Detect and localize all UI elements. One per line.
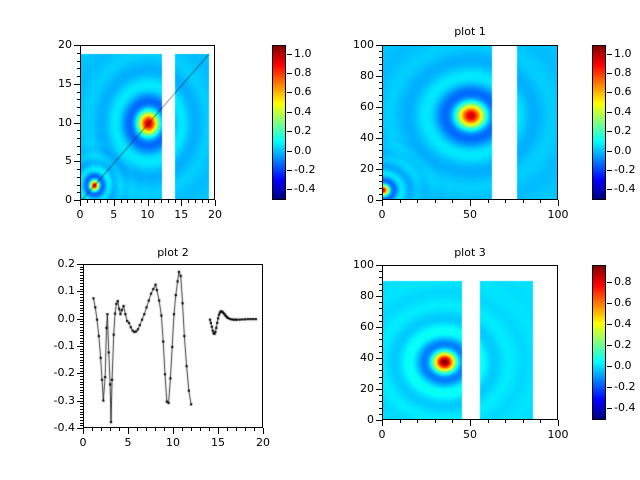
x-minor-tick [505, 200, 506, 203]
subplot-bottom-right: plot 3 050100020406080100 0.80.60.40.20.… [320, 240, 640, 480]
x-minor-tick [208, 200, 209, 203]
x-minor-tick [87, 200, 88, 203]
x-minor-tick [523, 200, 524, 203]
y-major-tick [376, 265, 382, 266]
x-minor-tick [141, 200, 142, 203]
y-minor-tick [80, 398, 83, 399]
x-tick-label: 15 [198, 437, 238, 448]
x-minor-tick [110, 428, 111, 431]
x-minor-tick [188, 200, 189, 203]
y-major-tick [74, 45, 80, 46]
y-minor-tick [80, 351, 83, 352]
colorbar-tick [287, 73, 292, 74]
y-minor-tick [77, 169, 80, 170]
x-major-tick [218, 428, 219, 434]
y-minor-tick [379, 194, 382, 195]
colorbar-tick-label: 0.8 [614, 67, 640, 78]
colorbar-tick-label: -0.4 [614, 183, 640, 194]
colorbar-tick-label: 0.8 [614, 276, 640, 287]
colorbar-tick-label: 0.0 [614, 360, 640, 371]
colorbar-tick [607, 345, 612, 346]
x-tick-label: 100 [538, 429, 578, 440]
y-minor-tick [379, 57, 382, 58]
colorbar-tick [607, 282, 612, 283]
x-minor-tick [254, 428, 255, 431]
y-tick-label: -0.2 [31, 367, 75, 378]
y-major-tick [77, 428, 83, 429]
y-minor-tick [80, 321, 83, 322]
y-minor-tick [379, 70, 382, 71]
y-minor-tick [80, 423, 83, 424]
y-minor-tick [379, 395, 382, 396]
y-minor-tick [80, 420, 83, 421]
x-minor-tick [161, 200, 162, 203]
y-tick-label: 0.1 [31, 285, 75, 296]
x-major-tick [382, 200, 383, 206]
y-minor-tick [379, 119, 382, 120]
x-minor-tick [121, 200, 122, 203]
y-minor-tick [77, 61, 80, 62]
x-minor-tick [488, 200, 489, 203]
x-major-tick [80, 200, 81, 206]
y-major-tick [376, 45, 382, 46]
x-minor-tick [155, 428, 156, 431]
y-tick-label: 10 [28, 117, 72, 128]
y-minor-tick [80, 289, 83, 290]
x-tick-label: 20 [243, 437, 283, 448]
y-minor-tick [80, 349, 83, 350]
y-minor-tick [80, 305, 83, 306]
y-minor-tick [379, 364, 382, 365]
y-tick-label: 5 [28, 155, 72, 166]
x-major-tick [148, 200, 149, 206]
y-minor-tick [80, 403, 83, 404]
y-minor-tick [379, 284, 382, 285]
colorbar-tick [607, 189, 612, 190]
x-minor-tick [146, 428, 147, 431]
x-minor-tick [488, 420, 489, 423]
y-minor-tick [80, 327, 83, 328]
x-major-tick [558, 200, 559, 206]
x-minor-tick [191, 428, 192, 431]
x-minor-tick [227, 428, 228, 431]
colorbar-top-left [272, 45, 286, 200]
x-major-tick [470, 200, 471, 206]
x-minor-tick [200, 428, 201, 431]
y-minor-tick [80, 286, 83, 287]
y-minor-tick [77, 115, 80, 116]
y-minor-tick [80, 324, 83, 325]
y-minor-tick [80, 310, 83, 311]
y-minor-tick [379, 163, 382, 164]
y-minor-tick [379, 352, 382, 353]
y-minor-tick [77, 146, 80, 147]
y-minor-tick [80, 280, 83, 281]
colorbar-tick-label: 0.6 [614, 86, 640, 97]
y-minor-tick [80, 316, 83, 317]
y-minor-tick [77, 185, 80, 186]
x-tick-label: 50 [450, 429, 490, 440]
y-minor-tick [379, 414, 382, 415]
y-minor-tick [80, 294, 83, 295]
y-minor-tick [80, 376, 83, 377]
x-tick-label: 0 [362, 429, 402, 440]
y-minor-tick [80, 275, 83, 276]
x-minor-tick [182, 428, 183, 431]
y-major-tick [376, 138, 382, 139]
y-minor-tick [80, 335, 83, 336]
y-minor-tick [379, 308, 382, 309]
x-tick-label: 0 [362, 209, 402, 220]
y-tick-label: 20 [28, 39, 72, 50]
y-major-tick [376, 76, 382, 77]
x-minor-tick [417, 420, 418, 423]
y-minor-tick [80, 300, 83, 301]
line-series-bottom-left [84, 265, 263, 428]
y-tick-label: 0.0 [31, 313, 75, 324]
x-minor-tick [209, 428, 210, 431]
heatmap-image-top-left [81, 46, 215, 200]
y-tick-label: 60 [330, 101, 374, 112]
y-minor-tick [379, 150, 382, 151]
x-minor-tick [168, 200, 169, 203]
y-minor-tick [379, 157, 382, 158]
subplot-bottom-left: plot 2 051015200.20.10.0-0.1-0.2-0.3-0.4 [0, 240, 320, 480]
y-minor-tick [80, 332, 83, 333]
y-minor-tick [77, 177, 80, 178]
y-minor-tick [379, 181, 382, 182]
heatmap-image-top-right [383, 46, 558, 200]
colorbar-tick-label: 0.4 [614, 318, 640, 329]
heatmap-image-bottom-right [383, 266, 558, 420]
colorbar-tick-label: 0.0 [614, 145, 640, 156]
axes-bottom-right [382, 265, 558, 420]
y-minor-tick [379, 277, 382, 278]
colorbar-tick-label: -0.4 [614, 402, 640, 413]
x-major-tick [173, 428, 174, 434]
x-minor-tick [523, 420, 524, 423]
x-major-tick [558, 420, 559, 426]
axes-top-left [80, 45, 215, 200]
y-minor-tick [379, 95, 382, 96]
y-major-tick [376, 389, 382, 390]
subplot-top-right: plot 1 050100020406080100 1.00.80.60.40.… [320, 0, 640, 240]
y-minor-tick [80, 283, 83, 284]
y-tick-label: -0.4 [31, 422, 75, 433]
y-minor-tick [80, 272, 83, 273]
y-minor-tick [77, 76, 80, 77]
y-minor-tick [80, 387, 83, 388]
x-minor-tick [505, 420, 506, 423]
y-major-tick [376, 169, 382, 170]
colorbar-tick-label: 0.2 [614, 125, 640, 136]
y-tick-label: -0.1 [31, 340, 75, 351]
y-minor-tick [80, 354, 83, 355]
x-minor-tick [245, 428, 246, 431]
y-minor-tick [80, 297, 83, 298]
y-tick-label: 40 [330, 132, 374, 143]
y-tick-label: 15 [28, 78, 72, 89]
y-minor-tick [80, 343, 83, 344]
y-minor-tick [80, 392, 83, 393]
y-minor-tick [80, 313, 83, 314]
y-minor-tick [77, 53, 80, 54]
x-minor-tick [540, 420, 541, 423]
y-minor-tick [80, 395, 83, 396]
colorbar-tick-label: 1.0 [614, 48, 640, 59]
colorbar-tick [607, 73, 612, 74]
y-minor-tick [80, 406, 83, 407]
x-minor-tick [119, 428, 120, 431]
y-minor-tick [379, 408, 382, 409]
y-minor-tick [379, 88, 382, 89]
axes-bottom-left [83, 264, 263, 428]
x-minor-tick [134, 200, 135, 203]
colorbar-tick [607, 54, 612, 55]
y-minor-tick [379, 333, 382, 334]
y-minor-tick [80, 412, 83, 413]
y-minor-tick [379, 132, 382, 133]
x-minor-tick [435, 420, 436, 423]
x-minor-tick [452, 200, 453, 203]
colorbar-tick [607, 170, 612, 171]
y-tick-label: 20 [330, 163, 374, 174]
y-minor-tick [379, 126, 382, 127]
y-minor-tick [80, 269, 83, 270]
y-minor-tick [80, 425, 83, 426]
subplot-top-right-title: plot 1 [382, 26, 558, 38]
colorbar-tick-label: 0.4 [614, 106, 640, 117]
colorbar-tick [287, 131, 292, 132]
colorbar-tick [607, 408, 612, 409]
y-major-tick [77, 401, 83, 402]
y-minor-tick [80, 278, 83, 279]
colorbar-tick [287, 189, 292, 190]
x-minor-tick [164, 428, 165, 431]
y-minor-tick [80, 330, 83, 331]
y-minor-tick [379, 101, 382, 102]
x-major-tick [83, 428, 84, 434]
colorbar-tick [287, 170, 292, 171]
y-tick-label: 100 [330, 259, 374, 270]
colorbar-tick [607, 92, 612, 93]
y-minor-tick [379, 82, 382, 83]
y-major-tick [376, 200, 382, 201]
y-major-tick [74, 161, 80, 162]
y-tick-label: 0.2 [31, 258, 75, 269]
x-minor-tick [137, 428, 138, 431]
y-minor-tick [379, 175, 382, 176]
y-tick-label: 20 [330, 383, 374, 394]
x-major-tick [215, 200, 216, 206]
y-major-tick [77, 346, 83, 347]
y-minor-tick [80, 341, 83, 342]
y-major-tick [77, 264, 83, 265]
y-minor-tick [80, 379, 83, 380]
y-minor-tick [379, 339, 382, 340]
colorbar-tick [607, 366, 612, 367]
y-minor-tick [379, 51, 382, 52]
y-major-tick [77, 373, 83, 374]
x-minor-tick [101, 428, 102, 431]
y-tick-label: -0.3 [31, 395, 75, 406]
y-minor-tick [379, 144, 382, 145]
x-major-tick [128, 428, 129, 434]
y-minor-tick [379, 113, 382, 114]
colorbar-tick [607, 151, 612, 152]
y-minor-tick [80, 365, 83, 366]
x-minor-tick [236, 428, 237, 431]
colorbar-tick [607, 303, 612, 304]
x-major-tick [263, 428, 264, 434]
x-minor-tick [195, 200, 196, 203]
y-minor-tick [77, 154, 80, 155]
x-minor-tick [154, 200, 155, 203]
x-major-tick [181, 200, 182, 206]
colorbar-tick [607, 324, 612, 325]
y-minor-tick [80, 409, 83, 410]
y-major-tick [376, 107, 382, 108]
colorbar-tick [607, 387, 612, 388]
x-minor-tick [107, 200, 108, 203]
y-minor-tick [80, 414, 83, 415]
y-minor-tick [379, 64, 382, 65]
y-minor-tick [77, 130, 80, 131]
y-minor-tick [77, 107, 80, 108]
x-minor-tick [400, 420, 401, 423]
x-minor-tick [452, 420, 453, 423]
colorbar-tick-label: -0.2 [614, 164, 640, 175]
y-minor-tick [77, 92, 80, 93]
y-minor-tick [379, 302, 382, 303]
x-minor-tick [127, 200, 128, 203]
y-major-tick [376, 358, 382, 359]
y-minor-tick [80, 384, 83, 385]
subplot-top-left: 0510152005101520 1.00.80.60.40.20.0-0.2-… [0, 0, 320, 240]
y-minor-tick [80, 371, 83, 372]
x-minor-tick [400, 200, 401, 203]
x-minor-tick [540, 200, 541, 203]
x-major-tick [382, 420, 383, 426]
y-minor-tick [80, 357, 83, 358]
x-tick-label: 0 [63, 437, 103, 448]
colorbar-tick [607, 112, 612, 113]
y-minor-tick [80, 417, 83, 418]
y-tick-label: 80 [330, 70, 374, 81]
colorbar-bottom-right [592, 265, 606, 420]
y-minor-tick [77, 192, 80, 193]
y-tick-label: 100 [330, 39, 374, 50]
y-major-tick [74, 123, 80, 124]
y-tick-label: 40 [330, 352, 374, 363]
y-minor-tick [80, 338, 83, 339]
y-major-tick [77, 319, 83, 320]
y-major-tick [376, 420, 382, 421]
x-minor-tick [417, 200, 418, 203]
y-tick-label: 60 [330, 321, 374, 332]
x-minor-tick [175, 200, 176, 203]
y-minor-tick [80, 267, 83, 268]
colorbar-tick [607, 131, 612, 132]
colorbar-tick [287, 151, 292, 152]
colorbar-tick-label: 0.6 [614, 297, 640, 308]
y-minor-tick [379, 383, 382, 384]
y-minor-tick [80, 302, 83, 303]
y-minor-tick [77, 68, 80, 69]
y-major-tick [77, 291, 83, 292]
y-major-tick [376, 327, 382, 328]
y-major-tick [376, 296, 382, 297]
x-tick-label: 100 [538, 209, 578, 220]
x-tick-label: 50 [450, 209, 490, 220]
y-minor-tick [77, 138, 80, 139]
colorbar-tick [287, 112, 292, 113]
x-major-tick [470, 420, 471, 426]
y-minor-tick [80, 382, 83, 383]
y-minor-tick [379, 370, 382, 371]
x-minor-tick [94, 200, 95, 203]
y-minor-tick [77, 99, 80, 100]
x-minor-tick [435, 200, 436, 203]
y-minor-tick [379, 346, 382, 347]
colorbar-tick [287, 54, 292, 55]
y-minor-tick [80, 308, 83, 309]
y-minor-tick [80, 360, 83, 361]
y-minor-tick [379, 401, 382, 402]
figure-canvas: 0510152005101520 1.00.80.60.40.20.0-0.2-… [0, 0, 640, 480]
y-minor-tick [80, 368, 83, 369]
y-tick-label: 0 [28, 194, 72, 205]
x-minor-tick [202, 200, 203, 203]
y-minor-tick [379, 290, 382, 291]
y-minor-tick [379, 271, 382, 272]
y-minor-tick [80, 390, 83, 391]
y-minor-tick [80, 362, 83, 363]
y-major-tick [74, 84, 80, 85]
x-major-tick [114, 200, 115, 206]
x-tick-label: 20 [195, 209, 235, 220]
colorbar-tick [287, 92, 292, 93]
y-tick-label: 80 [330, 290, 374, 301]
y-minor-tick [379, 315, 382, 316]
y-minor-tick [379, 377, 382, 378]
x-minor-tick [100, 200, 101, 203]
y-major-tick [74, 200, 80, 201]
y-minor-tick [379, 321, 382, 322]
subplot-bottom-left-title: plot 2 [83, 247, 263, 259]
x-minor-tick [92, 428, 93, 431]
colorbar-tick-label: -0.2 [614, 381, 640, 392]
colorbar-tick-label: 0.2 [614, 339, 640, 350]
x-tick-label: 10 [153, 437, 193, 448]
y-minor-tick [379, 188, 382, 189]
colorbar-top-right [592, 45, 606, 200]
subplot-bottom-right-title: plot 3 [382, 247, 558, 259]
y-tick-label: 0 [330, 194, 374, 205]
axes-top-right [382, 45, 558, 200]
y-tick-label: 0 [330, 414, 374, 425]
x-tick-label: 5 [108, 437, 148, 448]
